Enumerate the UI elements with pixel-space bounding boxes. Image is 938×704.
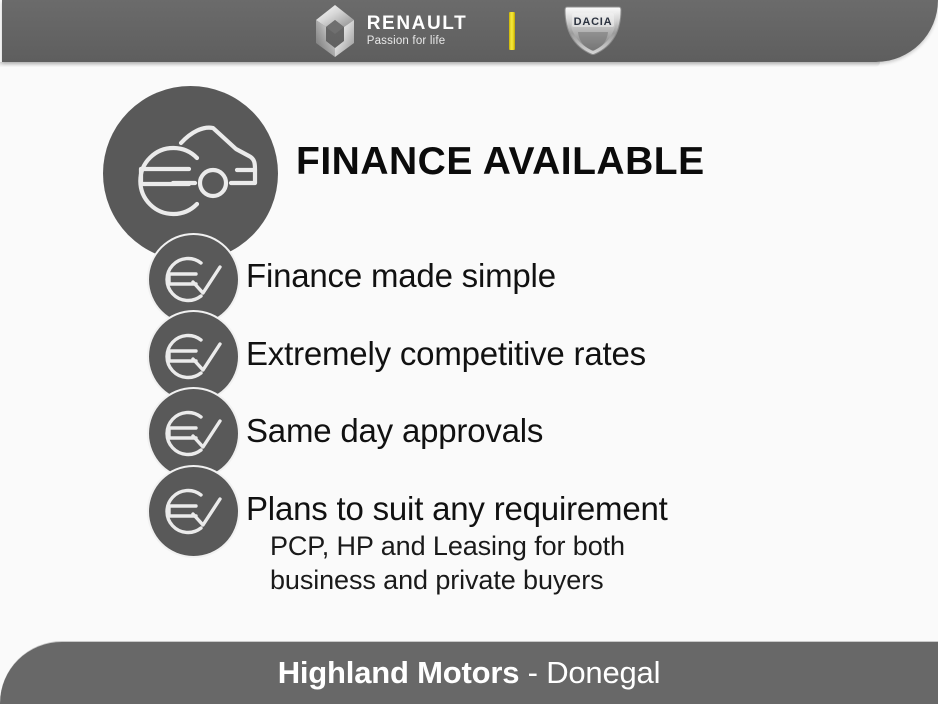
brand-header-content: RENAULT Passion for life: [0, 0, 938, 62]
bullet-label-0: Finance made simple: [246, 257, 556, 295]
renault-name: RENAULT: [367, 14, 468, 33]
dealer-name: Highland Motors: [278, 655, 520, 690]
promo-content: FINANCE AVAILABLE Finance made simple Ex…: [0, 67, 938, 635]
dealer-footer-text: Highland Motors - Donegal: [278, 655, 661, 691]
bullet-icon-1-euro-check-icon: [149, 312, 238, 401]
dealer-footer-bar: Highland Motors - Donegal: [0, 641, 938, 704]
dealer-separator: -: [519, 655, 546, 690]
bullet-subtext: PCP, HP and Leasing for both business an…: [270, 529, 625, 597]
bullet-label-3: Plans to suit any requirement: [246, 490, 668, 528]
renault-brand-lockup: RENAULT Passion for life: [313, 3, 468, 59]
bullet-label-2: Same day approvals: [246, 412, 543, 450]
page-title: FINANCE AVAILABLE: [296, 140, 705, 184]
dealer-location: Donegal: [546, 655, 660, 690]
finance-promo-banner: RENAULT Passion for life: [0, 0, 938, 704]
bullet-label-1: Extremely competitive rates: [246, 335, 646, 373]
bullet-icon-0-euro-check-icon: [149, 235, 238, 324]
svg-text:DACIA: DACIA: [574, 16, 613, 28]
bullet-icon-3-euro-check-icon: [149, 467, 238, 556]
dacia-shield-logo-icon: DACIA: [561, 4, 625, 58]
renault-wordmark: RENAULT Passion for life: [367, 14, 468, 48]
bullet-icon-2-euro-check-icon: [149, 389, 238, 478]
renault-tagline: Passion for life: [367, 36, 468, 48]
brand-divider: [509, 12, 515, 50]
renault-diamond-logo-icon: [313, 3, 357, 59]
